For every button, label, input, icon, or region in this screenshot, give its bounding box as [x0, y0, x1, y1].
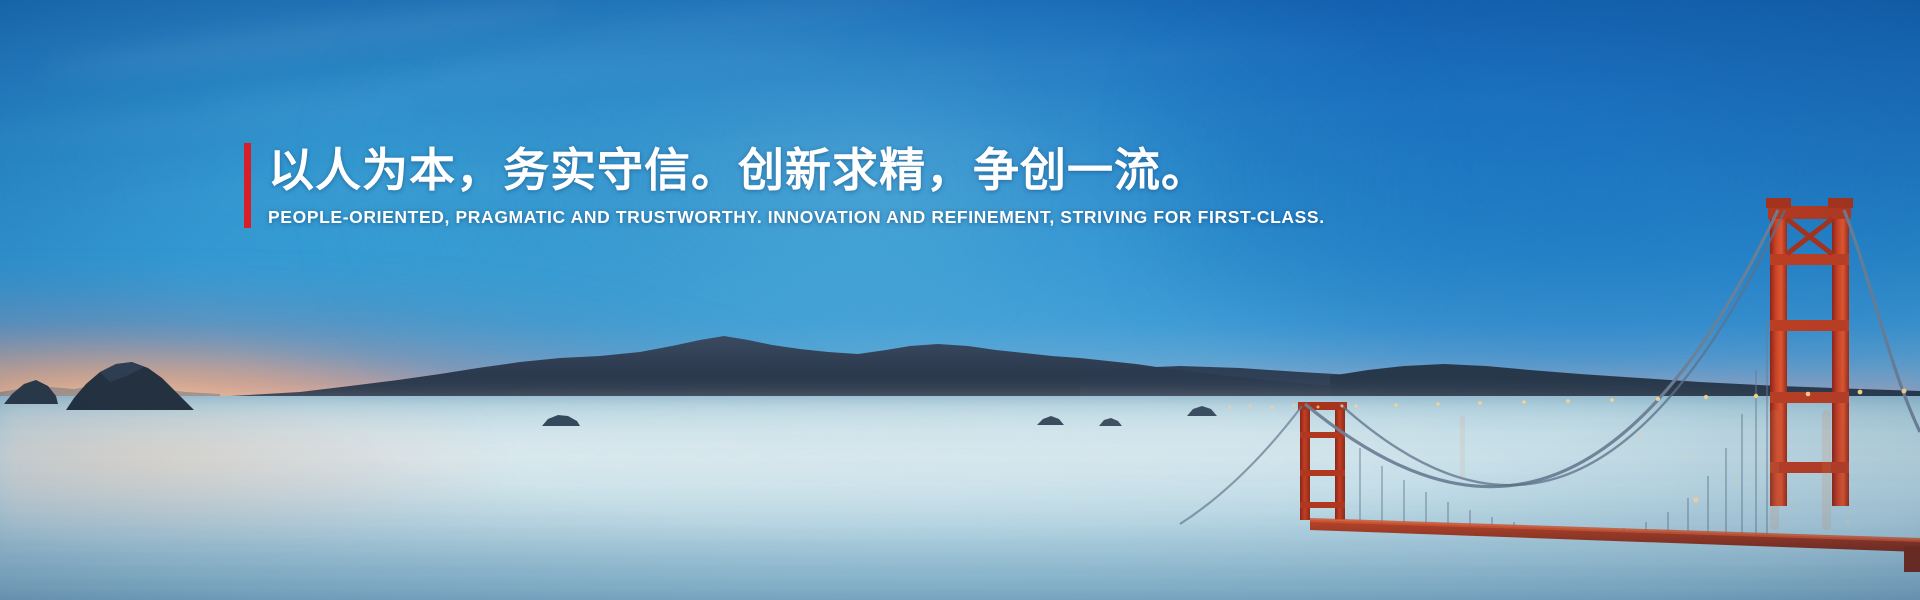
- accent-bar: [244, 143, 251, 228]
- water-rock: [540, 412, 582, 428]
- water-warm-reflection: [0, 408, 499, 540]
- banner-copy: 以人为本，务实守信。创新求精，争创一流。 PEOPLE-ORIENTED, PR…: [244, 143, 1325, 228]
- bridge-water-reflection: [1340, 406, 1900, 556]
- banner-subheadline: PEOPLE-ORIENTED, PRAGMATIC AND TRUSTWORT…: [268, 207, 1325, 228]
- hero-banner: 以人为本，务实守信。创新求精，争创一流。 PEOPLE-ORIENTED, PR…: [0, 0, 1920, 600]
- foreground-rock-large: [60, 358, 200, 412]
- banner-headline: 以人为本，务实守信。创新求精，争创一流。: [268, 143, 1325, 197]
- water-rock: [1036, 414, 1066, 427]
- copy-text-group: 以人为本，务实守信。创新求精，争创一流。 PEOPLE-ORIENTED, PR…: [268, 143, 1325, 228]
- water-rock: [1098, 416, 1124, 428]
- shoreline-lights: [1220, 398, 1360, 414]
- foreground-rock-small: [2, 372, 60, 406]
